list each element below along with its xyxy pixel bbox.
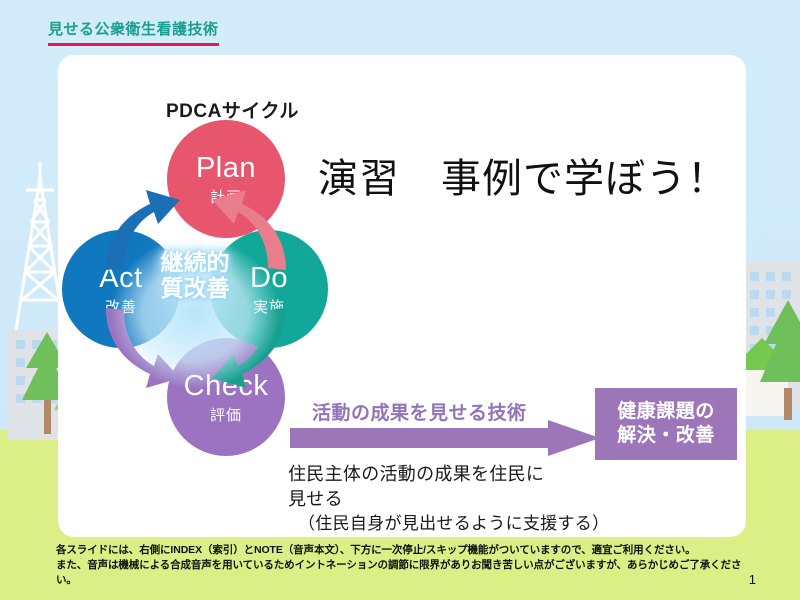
- result-line-1: 健康課題の: [617, 400, 715, 424]
- pdca-diagram: 継続的 質改善 Plan 計画 Do 実施 Check 評価 Act 改善: [62, 120, 330, 460]
- main-heading: 演習 事例で学ぼう！: [318, 146, 728, 204]
- technique-label: 活動の成果を見せる技術: [312, 398, 527, 425]
- flow-arrow-right-icon: [290, 420, 600, 456]
- footer-note: 各スライドには、右側にINDEX（索引）とNOTE（音声本文）、下方に一次停止/…: [56, 543, 743, 588]
- cycle-center-line-1: 継続的: [120, 250, 270, 276]
- footer-note-line-1: 各スライドには、右側にINDEX（索引）とNOTE（音声本文）、下方に一次停止/…: [56, 543, 743, 558]
- slide-header: 見せる公衆衛生看護技術: [48, 18, 219, 46]
- slide-canvas: 見せる公衆衛生看護技術 PDCAサイクル 継続的: [0, 0, 800, 600]
- description-line-1: 住民主体の活動の成果を住民に: [288, 462, 609, 487]
- footer-note-line-2: また、音声は機械による合成音声を用いているためイントネーションの調節に限界があり…: [56, 558, 743, 588]
- cycle-center-line-2: 質改善: [120, 276, 270, 302]
- result-line-2: 解決・改善: [617, 424, 715, 448]
- cycle-center-label: 継続的 質改善: [120, 250, 270, 302]
- description-block: 住民主体の活動の成果を住民に 見せる （住民自身が見出せるように支援する）: [288, 462, 609, 535]
- page-number: 1: [749, 572, 756, 588]
- description-line-2: 見せる: [288, 487, 609, 512]
- pdca-diagram-title: PDCAサイクル: [166, 96, 299, 123]
- header-underline: [48, 43, 219, 46]
- header-title: 見せる公衆衛生看護技術: [48, 18, 219, 42]
- result-box: 健康課題の 解決・改善: [595, 388, 737, 460]
- description-line-3: （住民自身が見出せるように支援する）: [288, 512, 609, 535]
